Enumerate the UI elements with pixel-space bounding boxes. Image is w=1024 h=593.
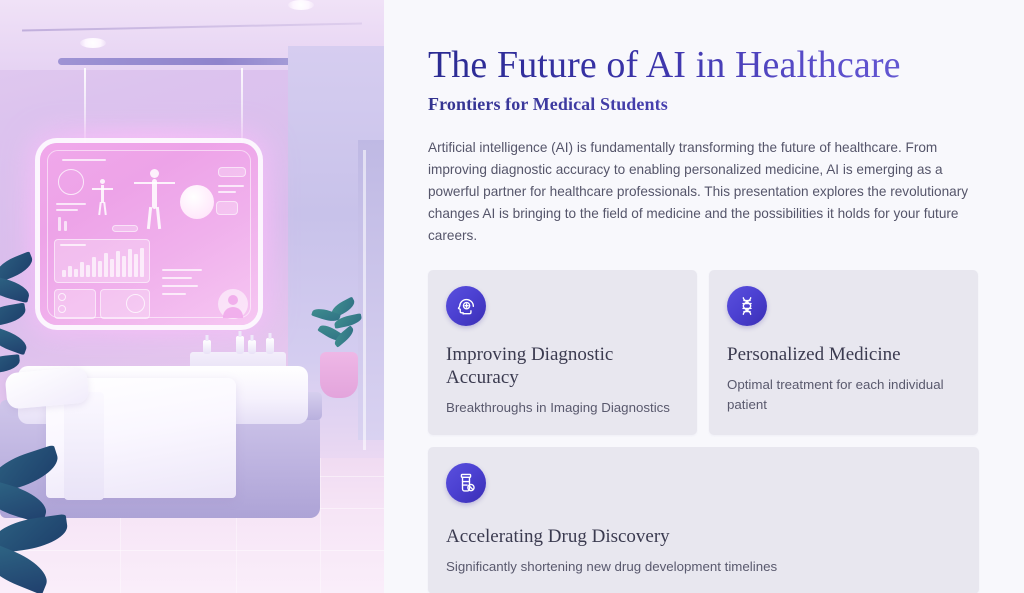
potted-palm (308, 300, 366, 360)
hologram-bar (86, 265, 90, 277)
hologram-panel (112, 225, 138, 232)
hologram-bar (116, 251, 120, 277)
card-title: Accelerating Drug Discovery (446, 525, 961, 548)
leaf (0, 302, 27, 327)
hologram-line (162, 293, 186, 295)
hologram-body-figure (134, 182, 175, 184)
hologram-line (162, 285, 198, 287)
feature-card-drug-discovery[interactable]: Accelerating Drug Discovery Significantl… (428, 447, 979, 593)
hero-illustration (0, 0, 384, 593)
hologram-bar (64, 221, 67, 231)
card-description: Significantly shortening new drug develo… (446, 557, 961, 577)
hologram-bar (62, 270, 66, 277)
dna-helix-icon (727, 286, 767, 326)
hologram-bar (58, 217, 61, 231)
foliage-left (0, 258, 54, 378)
hologram-bar (122, 256, 126, 277)
card-description: Optimal treatment for each individual pa… (727, 375, 960, 415)
slide-subtitle: Frontiers for Medical Students (428, 94, 980, 115)
hologram-line (56, 209, 78, 211)
bottle (203, 340, 211, 354)
hologram-bar (104, 253, 108, 277)
card-description: Breakthroughs in Imaging Diagnostics (446, 398, 679, 418)
hologram-line (56, 203, 86, 205)
hologram-line (218, 185, 244, 187)
foliage-bottom-left (0, 453, 100, 593)
hologram-icon (58, 293, 66, 301)
hologram-line (62, 159, 106, 161)
hologram-bar (80, 262, 84, 277)
hologram-bar (74, 269, 78, 277)
hologram-body-figure (92, 188, 113, 190)
brain-head-health-icon (446, 286, 486, 326)
card-title: Improving Diagnostic Accuracy (446, 343, 679, 389)
hologram-body-figure (150, 169, 159, 178)
ceiling-spotlight (80, 38, 106, 48)
hologram-orb (180, 185, 214, 219)
ceiling-spotlight (288, 0, 314, 10)
hologram-line (218, 191, 236, 193)
pill-bottle-icon (446, 463, 486, 503)
hologram-body-figure (100, 179, 105, 184)
hologram-line (162, 277, 192, 279)
bottle (248, 340, 256, 354)
hologram-bar (68, 266, 72, 277)
feature-card-personalized-medicine[interactable]: Personalized Medicine Optimal treatment … (709, 270, 978, 435)
hologram-bar (92, 257, 96, 277)
bottle (236, 336, 244, 354)
leaf (0, 354, 21, 374)
hologram-panel (216, 201, 238, 215)
hologram-bar (128, 249, 132, 277)
slide-body-text: Artificial intelligence (AI) is fundamen… (428, 137, 980, 247)
hologram-gauge (126, 294, 145, 313)
floor-tile-line (320, 458, 321, 593)
feature-card-diagnostic-accuracy[interactable]: Improving Diagnostic Accuracy Breakthrou… (428, 270, 697, 435)
hologram-panel (218, 167, 246, 177)
hologram-icon (58, 305, 66, 313)
holographic-medical-display (40, 143, 258, 325)
hologram-gauge (58, 169, 84, 195)
hologram-line (60, 244, 86, 246)
presentation-slide: The Future of AI in Healthcare Frontiers… (0, 0, 1024, 593)
leaf (0, 514, 70, 554)
hologram-bar (140, 248, 144, 277)
leaf (0, 275, 32, 303)
hologram-patient-avatar (218, 289, 248, 319)
doorway (358, 140, 384, 440)
content-panel: The Future of AI in Healthcare Frontiers… (384, 0, 1024, 593)
leaf (0, 326, 30, 356)
hologram-line (162, 269, 202, 271)
hologram-bar (98, 261, 102, 277)
feature-cards: Improving Diagnostic Accuracy Breakthrou… (428, 270, 979, 593)
card-title: Personalized Medicine (727, 343, 960, 366)
slide-title: The Future of AI in Healthcare (428, 44, 980, 87)
hologram-bar (134, 254, 138, 277)
hologram-bar (110, 259, 114, 277)
bottle (266, 338, 274, 354)
